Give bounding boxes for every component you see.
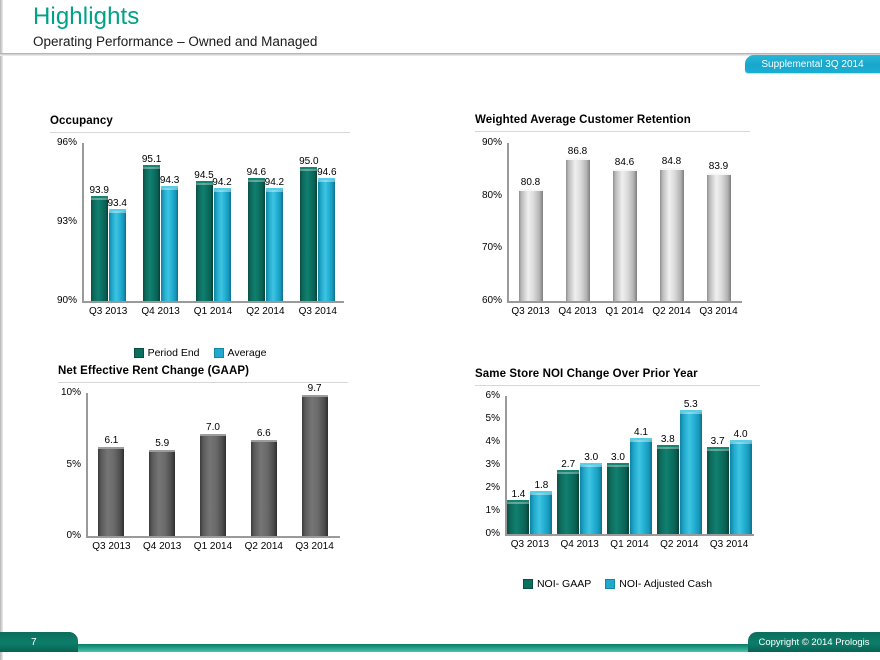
bar-noi-change-0-0 bbox=[507, 500, 529, 534]
x-axis-tick-label: Q4 2013 bbox=[134, 306, 186, 317]
bar-value-label: 93.4 bbox=[102, 198, 133, 209]
chart-panel-occupancy: Occupancy 90%93%96%93.993.4Q3 201395.194… bbox=[50, 115, 350, 359]
bar-value-label: 5.3 bbox=[673, 399, 709, 410]
bar-value-label: 84.6 bbox=[606, 157, 644, 168]
bar-rent-change-2-0 bbox=[200, 434, 226, 536]
bar-value-label: 5.9 bbox=[142, 438, 182, 449]
bar-value-label: 95.0 bbox=[293, 156, 324, 167]
x-axis-tick-label: Q2 2014 bbox=[654, 539, 704, 550]
bar-occupancy-3-0 bbox=[248, 178, 265, 301]
bar-noi-change-4-0 bbox=[707, 447, 729, 534]
chart-legend: Period EndAverage bbox=[50, 347, 350, 359]
y-axis-tick-label: 90% bbox=[50, 295, 77, 306]
y-axis-tick-label: 5% bbox=[58, 459, 81, 470]
bar-value-label: 93.9 bbox=[84, 185, 115, 196]
bar-value-label: 4.0 bbox=[723, 429, 759, 440]
bar-rent-change-4-0 bbox=[302, 395, 328, 536]
page-header: Highlights Operating Performance – Owned… bbox=[0, 0, 880, 56]
bar-occupancy-1-1 bbox=[161, 186, 178, 301]
chart-title-divider bbox=[475, 385, 760, 386]
x-axis bbox=[507, 301, 742, 303]
y-axis-tick-label: 96% bbox=[50, 137, 77, 148]
bar-value-label: 94.3 bbox=[154, 175, 185, 186]
x-axis-tick-label: Q4 2013 bbox=[137, 541, 188, 552]
y-axis-tick-label: 2% bbox=[475, 482, 500, 493]
bar-value-label: 84.8 bbox=[653, 156, 691, 167]
legend-swatch-icon bbox=[523, 579, 533, 589]
bar-noi-change-1-1 bbox=[580, 463, 602, 534]
bar-retention-4-0 bbox=[707, 173, 731, 301]
x-axis-tick-label: Q3 2013 bbox=[86, 541, 137, 552]
x-axis-tick-label: Q1 2014 bbox=[601, 306, 648, 317]
y-axis-tick-label: 0% bbox=[475, 528, 500, 539]
y-axis-tick-label: 93% bbox=[50, 216, 77, 227]
legend-item: NOI- Adjusted Cash bbox=[605, 578, 712, 590]
bar-value-label: 6.1 bbox=[91, 435, 131, 446]
x-axis-tick-label: Q1 2014 bbox=[188, 541, 239, 552]
legend-swatch-icon bbox=[134, 348, 144, 358]
legend-label: NOI- Adjusted Cash bbox=[619, 578, 712, 590]
bar-value-label: 94.6 bbox=[311, 167, 342, 178]
chart-panel-retention: Weighted Average Customer Retention 60%7… bbox=[475, 114, 750, 323]
x-axis-tick-label: Q3 2014 bbox=[695, 306, 742, 317]
bar-noi-change-1-0 bbox=[557, 470, 579, 534]
y-axis-tick-label: 3% bbox=[475, 459, 500, 470]
bar-noi-change-3-1 bbox=[680, 410, 702, 534]
bar-value-label: 83.9 bbox=[700, 161, 738, 172]
y-axis-tick-label: 4% bbox=[475, 436, 500, 447]
plot-area: 0%1%2%3%4%5%6%1.41.8Q3 20132.73.0Q4 2013… bbox=[475, 396, 760, 556]
bar-value-label: 95.1 bbox=[136, 154, 167, 165]
y-axis-tick-label: 60% bbox=[475, 295, 502, 306]
bar-rent-change-0-0 bbox=[98, 447, 124, 536]
x-axis-tick-label: Q3 2013 bbox=[505, 539, 555, 550]
x-axis-tick-label: Q1 2014 bbox=[187, 306, 239, 317]
bar-value-label: 9.7 bbox=[295, 383, 335, 394]
x-axis-tick-label: Q4 2013 bbox=[555, 539, 605, 550]
bar-value-label: 1.8 bbox=[523, 480, 559, 491]
x-axis bbox=[505, 534, 754, 536]
y-axis-tick-label: 10% bbox=[58, 387, 81, 398]
page-title: Highlights bbox=[33, 3, 139, 31]
page-number-tab: 7 bbox=[0, 632, 78, 652]
page-subtitle: Operating Performance – Owned and Manage… bbox=[33, 34, 317, 49]
plot-area: 0%5%10%6.1Q3 20135.9Q4 20137.0Q1 20146.6… bbox=[58, 393, 348, 558]
legend-label: Average bbox=[228, 347, 267, 359]
bar-retention-2-0 bbox=[613, 169, 637, 301]
y-axis-tick-label: 70% bbox=[475, 242, 502, 253]
y-axis bbox=[86, 393, 88, 536]
bar-occupancy-2-0 bbox=[196, 181, 213, 302]
x-axis bbox=[82, 301, 344, 303]
legend-label: NOI- GAAP bbox=[537, 578, 591, 590]
bar-value-label: 94.6 bbox=[241, 167, 272, 178]
bar-occupancy-0-1 bbox=[109, 209, 126, 301]
y-axis bbox=[505, 396, 507, 534]
plot-area: 90%93%96%93.993.4Q3 201395.194.3Q4 20139… bbox=[50, 143, 350, 323]
y-axis bbox=[82, 143, 84, 301]
y-axis-tick-label: 0% bbox=[58, 530, 81, 541]
chart-title-divider bbox=[50, 132, 350, 133]
y-axis-tick-label: 1% bbox=[475, 505, 500, 516]
x-axis-tick-label: Q2 2014 bbox=[648, 306, 695, 317]
plot-area: 60%70%80%90%80.8Q3 201386.8Q4 201384.6Q1… bbox=[475, 143, 750, 323]
y-axis bbox=[507, 143, 509, 301]
bar-noi-change-3-0 bbox=[657, 445, 679, 534]
y-axis-tick-label: 5% bbox=[475, 413, 500, 424]
bar-value-label: 86.8 bbox=[559, 146, 597, 157]
x-axis-tick-label: Q3 2014 bbox=[704, 539, 754, 550]
chart-title-divider bbox=[475, 131, 750, 132]
chart-legend: NOI- GAAPNOI- Adjusted Cash bbox=[475, 578, 760, 590]
x-axis-tick-label: Q4 2013 bbox=[554, 306, 601, 317]
legend-swatch-icon bbox=[214, 348, 224, 358]
legend-item: Period End bbox=[134, 347, 200, 359]
chart-title: Same Store NOI Change Over Prior Year bbox=[475, 368, 760, 380]
bar-value-label: 94.2 bbox=[259, 177, 290, 188]
chart-title: Weighted Average Customer Retention bbox=[475, 114, 750, 126]
bar-noi-change-2-0 bbox=[607, 463, 629, 534]
bar-value-label: 6.6 bbox=[244, 428, 284, 439]
bar-value-label: 94.2 bbox=[207, 177, 238, 188]
bar-occupancy-3-1 bbox=[266, 188, 283, 301]
bar-rent-change-1-0 bbox=[149, 450, 175, 536]
y-axis-tick-label: 6% bbox=[475, 390, 500, 401]
legend-item: NOI- GAAP bbox=[523, 578, 591, 590]
bar-retention-3-0 bbox=[660, 168, 684, 301]
x-axis-tick-label: Q3 2013 bbox=[82, 306, 134, 317]
x-axis-tick-label: Q2 2014 bbox=[239, 306, 291, 317]
legend-item: Average bbox=[214, 347, 267, 359]
x-axis-tick-label: Q3 2014 bbox=[289, 541, 340, 552]
bar-occupancy-2-1 bbox=[214, 188, 231, 301]
left-edge-accent bbox=[0, 0, 3, 660]
bar-noi-change-2-1 bbox=[630, 438, 652, 534]
x-axis-tick-label: Q1 2014 bbox=[605, 539, 655, 550]
y-axis-tick-label: 80% bbox=[475, 190, 502, 201]
legend-swatch-icon bbox=[605, 579, 615, 589]
bar-retention-1-0 bbox=[566, 158, 590, 301]
x-axis-tick-label: Q2 2014 bbox=[238, 541, 289, 552]
bar-value-label: 7.0 bbox=[193, 422, 233, 433]
bar-retention-0-0 bbox=[519, 189, 543, 301]
bar-noi-change-0-1 bbox=[530, 491, 552, 534]
x-axis-tick-label: Q3 2014 bbox=[292, 306, 344, 317]
y-axis-tick-label: 90% bbox=[475, 137, 502, 148]
bar-occupancy-4-0 bbox=[300, 167, 317, 301]
chart-title: Net Effective Rent Change (GAAP) bbox=[58, 365, 348, 377]
bar-noi-change-4-1 bbox=[730, 440, 752, 534]
legend-label: Period End bbox=[148, 347, 200, 359]
x-axis-tick-label: Q3 2013 bbox=[507, 306, 554, 317]
bar-value-label: 80.8 bbox=[512, 177, 550, 188]
chart-panel-rent-change: Net Effective Rent Change (GAAP) 0%5%10%… bbox=[58, 365, 348, 558]
bar-rent-change-3-0 bbox=[251, 440, 277, 536]
copyright-tab: Copyright © 2014 Prologis bbox=[748, 632, 880, 652]
bar-occupancy-0-0 bbox=[91, 196, 108, 301]
chart-panel-noi-change: Same Store NOI Change Over Prior Year 0%… bbox=[475, 368, 760, 590]
supplemental-badge: Supplemental 3Q 2014 bbox=[745, 55, 880, 73]
bar-occupancy-4-1 bbox=[318, 178, 335, 301]
x-axis bbox=[86, 536, 340, 538]
chart-title: Occupancy bbox=[50, 115, 350, 127]
